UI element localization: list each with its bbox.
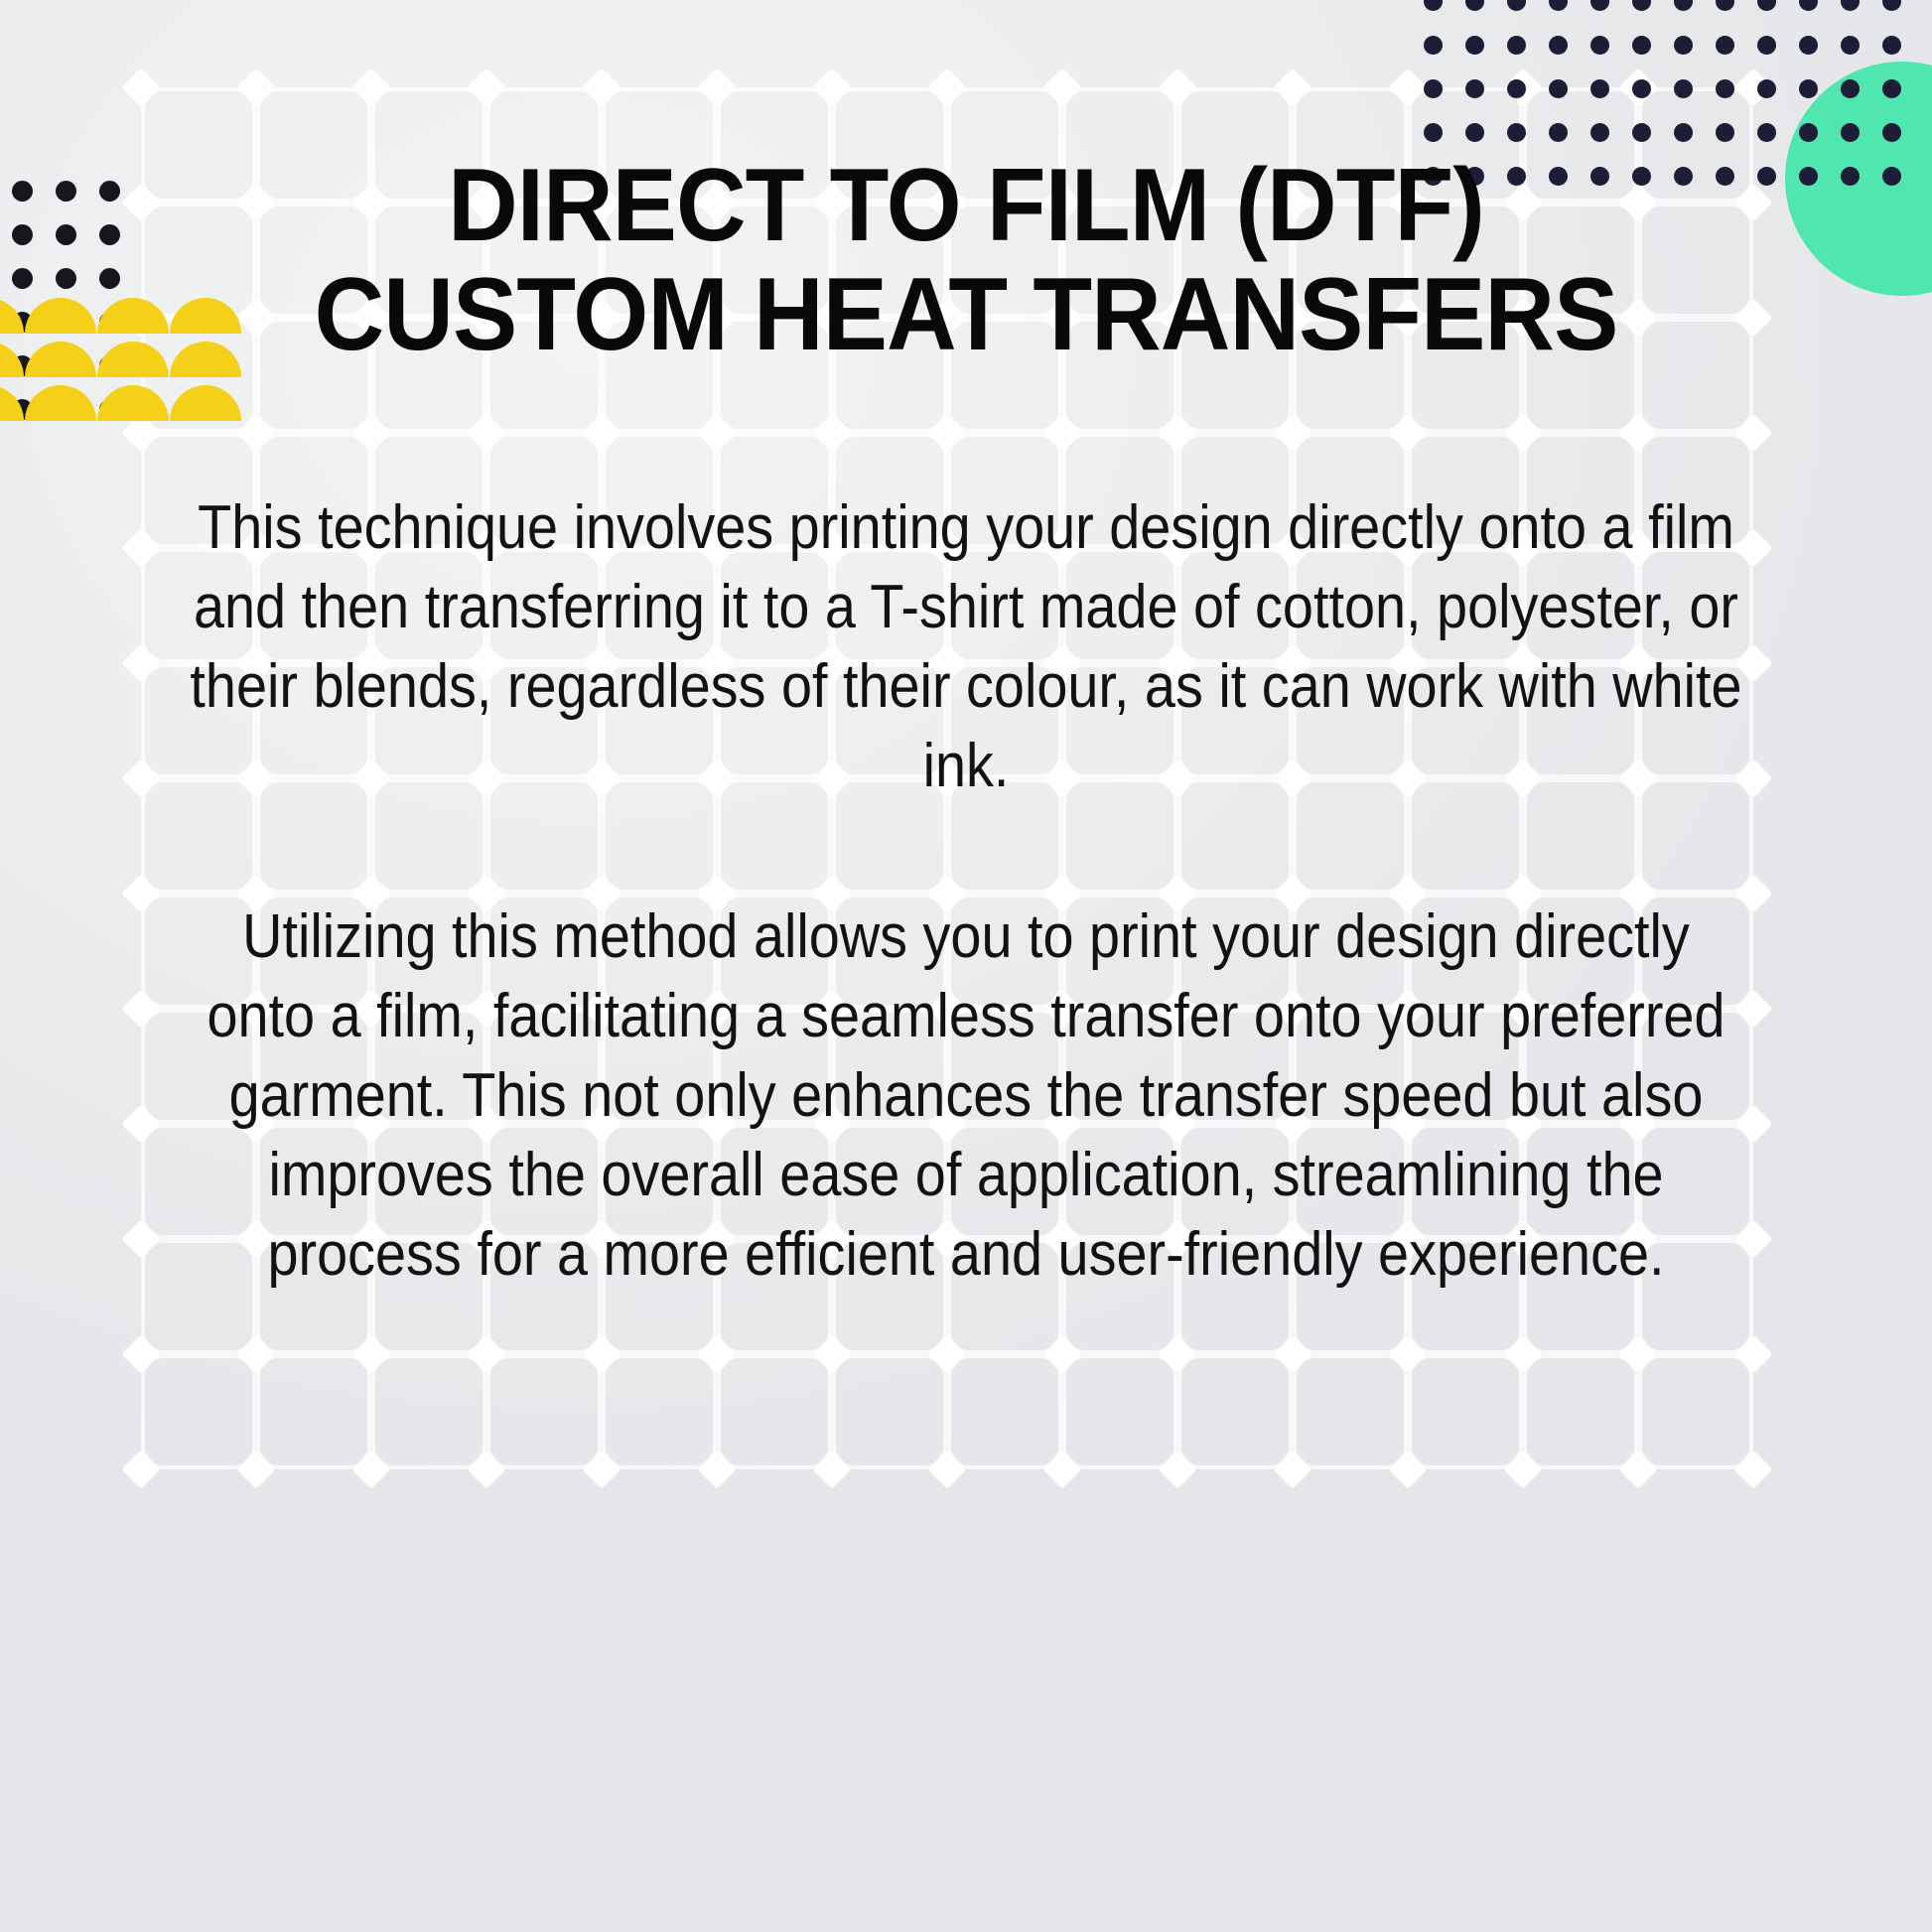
paragraph-2: Utilizing this method allows you to prin… [183,897,1750,1295]
title-line-2: CUSTOM HEAT TRANSFERS [170,260,1762,369]
poster-canvas: DIRECT TO FILM (DTF) CUSTOM HEAT TRANSFE… [0,0,1932,1932]
title-line-1: DIRECT TO FILM (DTF) [170,151,1762,260]
paragraph-1: This technique involves printing your de… [183,488,1750,806]
poster-content: DIRECT TO FILM (DTF) CUSTOM HEAT TRANSFE… [0,0,1932,1932]
body-copy: This technique involves printing your de… [95,488,1837,1295]
page-title: DIRECT TO FILM (DTF) CUSTOM HEAT TRANSFE… [58,151,1873,369]
